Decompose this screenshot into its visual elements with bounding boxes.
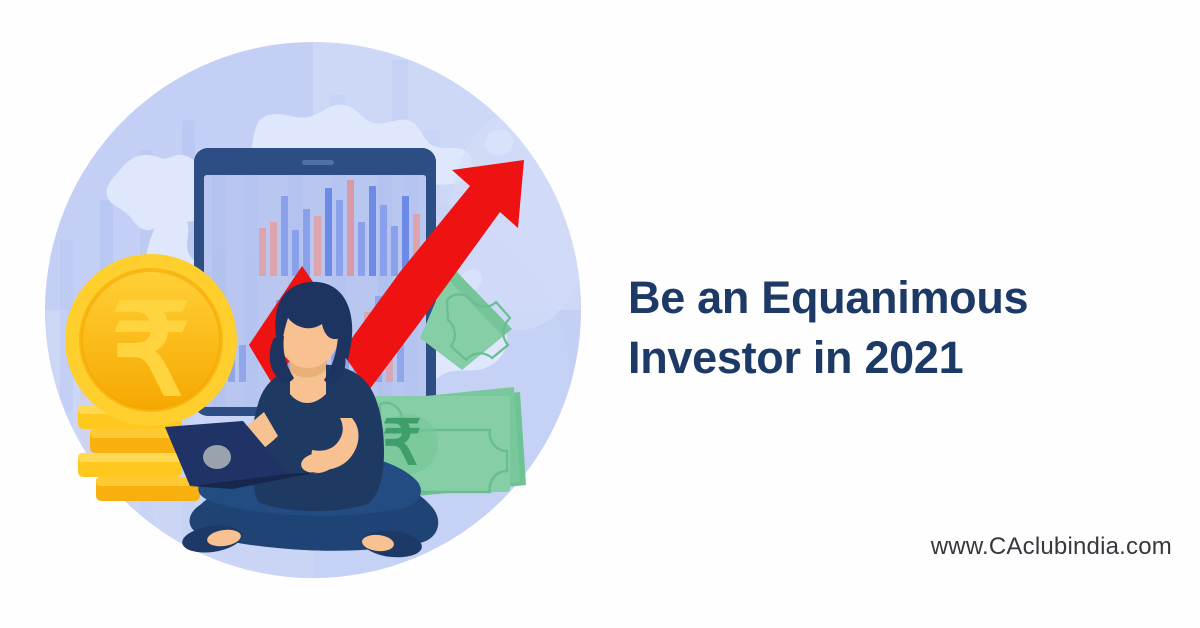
investor-illustration: ₹ ₹ — [0, 0, 620, 628]
rupee-coin: ₹ — [65, 254, 237, 426]
headline-line-2: Investor in 2021 — [628, 328, 1188, 387]
tablet-speaker — [302, 160, 334, 165]
site-url: www.CAclubindia.com — [931, 533, 1172, 561]
laptop-logo — [203, 445, 231, 469]
page-title: Be an Equanimous Investor in 2021 — [628, 268, 1188, 387]
promo-banner: ₹ ₹ — [0, 0, 1200, 628]
headline-line-1: Be an Equanimous — [628, 268, 1188, 327]
rupee-symbol-coin: ₹ — [111, 280, 191, 421]
text-panel: Be an Equanimous Investor in 2021 www.CA… — [620, 0, 1200, 628]
